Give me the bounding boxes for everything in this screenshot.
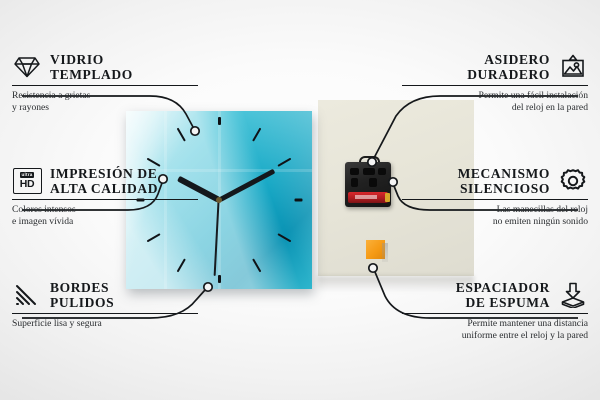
clock-mechanism — [345, 162, 391, 207]
feature-title: ESPACIADOR DE ESPUMA — [456, 280, 550, 310]
clock-tick-2 — [277, 158, 291, 167]
feature-title: MECANISMO SILENCIOSO — [458, 166, 550, 196]
feature-title: VIDRIO TEMPLADO — [50, 52, 133, 82]
battery-positive-terminal — [385, 193, 390, 202]
foam-spacer — [366, 240, 385, 259]
feature-description: Las manecillas del reloj no emiten ningú… — [402, 204, 588, 227]
feature-divider — [402, 85, 588, 86]
mechanism-detail — [369, 178, 377, 187]
feature-espaciador-de-espuma[interactable]: ESPACIADOR DE ESPUMA Permite mantener un… — [402, 280, 588, 342]
mechanism-body — [345, 162, 391, 207]
mechanism-detail — [378, 168, 386, 175]
clock-tick-1 — [252, 128, 261, 142]
feature-vidrio-templado[interactable]: VIDRIO TEMPLADO Resistencia a grietas y … — [12, 52, 198, 114]
diamond-icon — [12, 52, 42, 82]
feature-header: MECANISMO SILENCIOSO — [402, 166, 588, 196]
clock-minute-hand — [218, 169, 275, 203]
polished-edge-icon — [12, 280, 42, 310]
mechanism-battery — [348, 192, 388, 203]
feature-mecanismo-silencioso[interactable]: MECANISMO SILENCIOSO Las manecillas del … — [402, 166, 588, 228]
feature-description: Colores intensos e imagen vívida — [12, 204, 198, 227]
ultra-hd-badge-icon: ultra HD — [12, 166, 42, 196]
feature-title: ASIDERO DURADERO — [467, 52, 550, 82]
feature-description: Permite mantener una distancia uniforme … — [402, 318, 588, 341]
battery-label — [355, 195, 377, 199]
feature-divider — [402, 199, 588, 200]
feature-description: Superficie lisa y segura — [12, 318, 198, 330]
infographic-stage: VIDRIO TEMPLADO Resistencia a grietas y … — [0, 0, 600, 400]
feature-header: ASIDERO DURADERO — [402, 52, 588, 82]
gear-icon — [558, 166, 588, 196]
feature-divider — [12, 199, 198, 200]
clock-center-cap — [216, 197, 222, 203]
feature-title: IMPRESIÓN DE ALTA CALIDAD — [50, 166, 158, 196]
mechanism-detail — [363, 168, 375, 175]
feature-divider — [12, 313, 198, 314]
feature-header: ESPACIADOR DE ESPUMA — [402, 280, 588, 310]
clock-tick-5 — [252, 258, 261, 272]
clock-tick-7 — [177, 258, 186, 272]
clock-tick-6 — [218, 275, 221, 283]
press-down-foam-icon — [558, 280, 588, 310]
clock-tick-4 — [277, 233, 291, 242]
clock-tick-3 — [295, 199, 303, 202]
feature-title: BORDES PULIDOS — [50, 280, 114, 310]
feature-header: BORDES PULIDOS — [12, 280, 198, 310]
feature-description: Resistencia a grietas y rayones — [12, 90, 198, 113]
clock-tick-8 — [147, 233, 161, 242]
feature-header: ultra HD IMPRESIÓN DE ALTA CALIDAD — [12, 166, 198, 196]
feature-bordes-pulidos[interactable]: BORDES PULIDOS Superficie lisa y segura — [12, 280, 198, 330]
clock-tick-12 — [218, 117, 221, 125]
clock-tick-11 — [177, 128, 186, 142]
feature-divider — [12, 85, 198, 86]
feature-description: Permite una fácil instalación del reloj … — [402, 90, 588, 113]
framed-picture-hanger-icon — [558, 52, 588, 82]
feature-asidero-duradero[interactable]: ASIDERO DURADERO Permite una fácil insta… — [402, 52, 588, 114]
feature-impresion-alta-calidad[interactable]: ultra HD IMPRESIÓN DE ALTA CALIDAD Color… — [12, 166, 198, 228]
mechanism-detail — [351, 178, 358, 187]
feature-header: VIDRIO TEMPLADO — [12, 52, 198, 82]
feature-divider — [402, 313, 588, 314]
mechanism-detail — [350, 168, 359, 175]
